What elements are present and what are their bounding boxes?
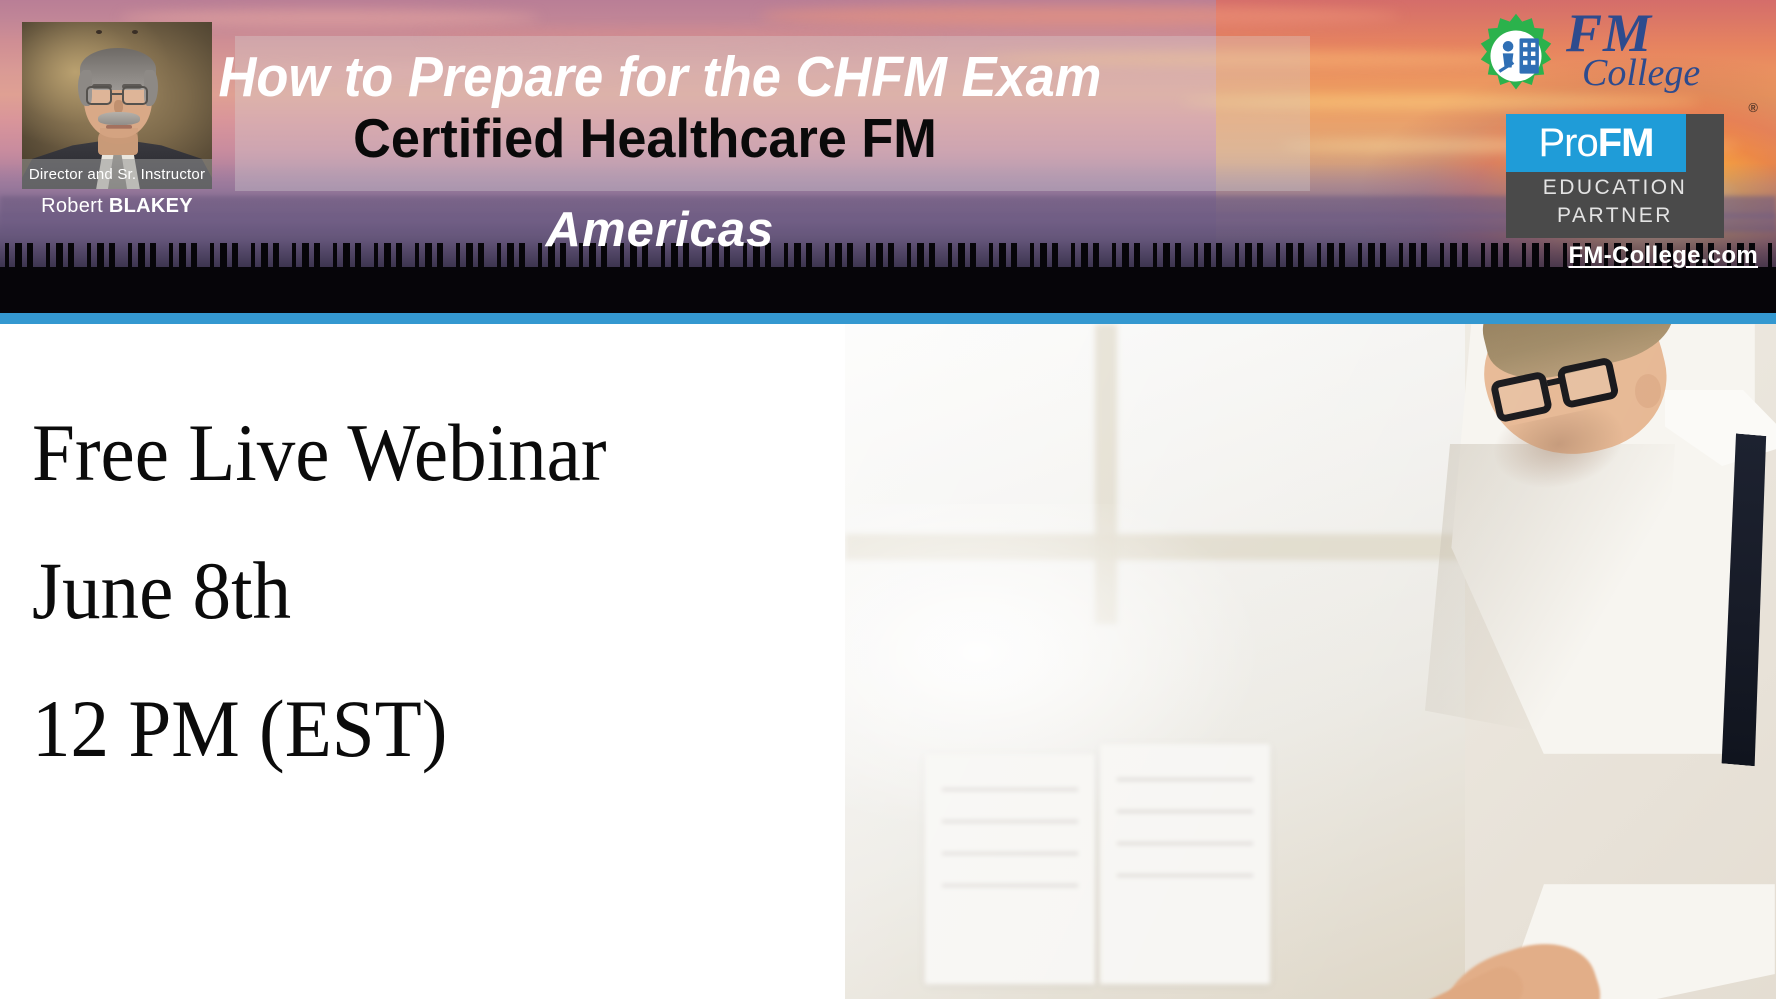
page-title: How to Prepare for the CHFM Exam (53, 44, 1267, 110)
college-wordmark: College (1582, 54, 1700, 92)
profm-fm-text: FM (1598, 121, 1654, 165)
portrait-lens-left (86, 86, 112, 105)
header-banner: How to Prepare for the CHFM Exam Certifi… (0, 0, 1776, 313)
background-document (925, 754, 1095, 984)
speaker-portrait-photo: Director and Sr. Instructor (22, 22, 212, 189)
fm-college-logo[interactable]: FM College (1470, 8, 1770, 108)
body-content-area: Free Live Webinar June 8th 12 PM (EST) (0, 324, 1776, 999)
page-subtitle: Certified Healthcare FM (32, 106, 1258, 170)
portrait-chin-shadow (100, 128, 138, 144)
event-type-label: Free Live Webinar (32, 384, 709, 522)
webinar-promo-poster: How to Prepare for the CHFM Exam Certifi… (0, 0, 1776, 999)
speaker-role-label: Director and Sr. Instructor (22, 159, 212, 189)
portrait-mustache (98, 112, 140, 125)
blue-divider-bar (0, 313, 1776, 324)
portrait-eye-left (96, 30, 102, 34)
background-document (1100, 744, 1270, 984)
treeline-silhouette (0, 267, 1776, 313)
profm-wordmark: ProFM (1538, 123, 1653, 163)
business-meeting-photo (845, 324, 1776, 999)
registered-trademark-mark: ® (1748, 100, 1758, 115)
speaker-card: Director and Sr. Instructor Robert BLAKE… (22, 22, 212, 218)
speaker-last-name: BLAKEY (109, 195, 193, 217)
standing-man-shirt-shading (1425, 444, 1675, 754)
profm-pro-text: Pro (1538, 121, 1597, 165)
event-date-label: June 8th (32, 522, 709, 660)
profm-education-partner-badge[interactable]: ProFM EDUCATION PARTNER (1506, 114, 1724, 238)
website-link[interactable]: FM-College.com (1458, 242, 1758, 270)
profm-logo-block: ProFM (1506, 114, 1686, 172)
event-time-label: 12 PM (EST) (32, 660, 709, 798)
standing-man-ear (1635, 374, 1661, 408)
gear-building-icon (1472, 12, 1560, 100)
education-label: EDUCATION (1506, 176, 1724, 200)
portrait-glasses-bridge (112, 93, 122, 95)
speaker-first-name: Robert (41, 195, 103, 217)
speaker-name: Robert BLAKEY (22, 189, 212, 218)
cloud-streak (760, 6, 1400, 26)
event-details: Free Live Webinar June 8th 12 PM (EST) (32, 384, 752, 798)
partner-label: PARTNER (1506, 204, 1724, 228)
portrait-eye-right (132, 30, 138, 34)
portrait-lens-right (122, 86, 148, 105)
branding-logo-block: FM College ® ProFM EDUCATION PARTNER FM-… (1470, 8, 1770, 108)
